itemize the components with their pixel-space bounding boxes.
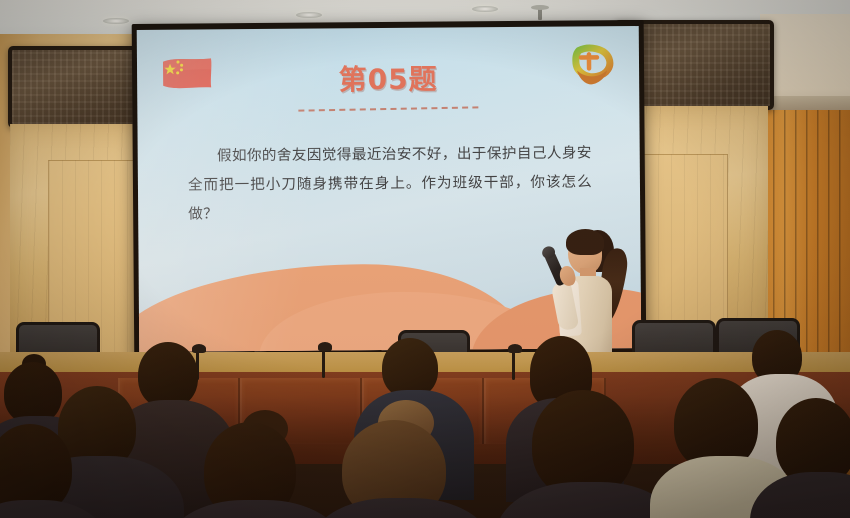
downlight-icon <box>103 18 129 24</box>
downlight-icon <box>296 12 322 18</box>
downlight-icon <box>472 6 498 12</box>
slide-body-text: 假如你的舍友因觉得最近治安不好，出于保护自己人身安全而把一把小刀随身携带在身上。… <box>188 138 593 228</box>
shoulders <box>310 498 492 518</box>
gooseneck-microphone-icon <box>322 348 325 378</box>
acoustic-panel-left <box>8 46 152 128</box>
lecture-hall-photo: 第05题 假如你的舍友因觉得最近治安不好，出于保护自己人身安全而把一把小刀随身携… <box>0 0 850 518</box>
slide-divider <box>298 106 478 111</box>
sprinkler-icon <box>538 8 542 20</box>
slide-title: 第05题 <box>137 56 639 100</box>
head <box>4 362 62 424</box>
gooseneck-microphone-icon <box>512 350 515 380</box>
presenter-hair-front <box>566 229 604 255</box>
head <box>138 342 198 408</box>
head <box>382 338 438 398</box>
